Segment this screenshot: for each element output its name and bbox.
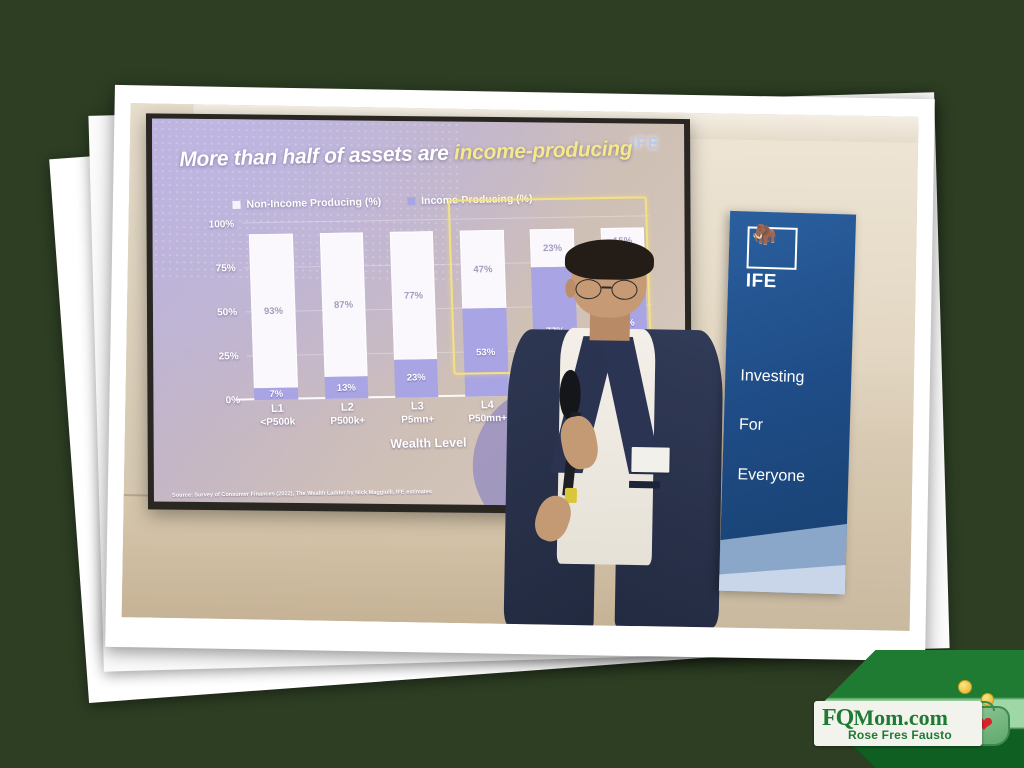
y-tick-100: 100% <box>209 219 235 230</box>
photo-frame-front: IFE More than half of assets are income-… <box>105 85 935 661</box>
bar-L2-segment-income: 13% <box>324 376 368 398</box>
elephant-icon: 🦣 <box>752 225 777 246</box>
banner-line-everyone: Everyone <box>737 466 805 486</box>
y-tick-75: 75% <box>216 263 236 274</box>
speaker-eyeglasses-left-icon <box>576 279 602 299</box>
bar-L2[interactable]: 87% 13% <box>320 232 369 398</box>
banner-line-investing: Investing <box>740 367 805 387</box>
x-label-L3-name: L3 <box>396 400 440 413</box>
speaker-hair <box>564 239 655 280</box>
x-label-L3: L3 P5mn+ <box>396 400 440 426</box>
speaker-eyeglasses-bridge <box>602 287 611 289</box>
x-label-L1-sub: <P500k <box>256 417 300 429</box>
watermark-subtitle: Rose Fres Fausto <box>848 728 952 742</box>
coin-icon-1 <box>958 680 972 694</box>
watermark-fqmom: ❤ FQMom.com Rose Fres Fausto <box>812 650 1024 768</box>
legend-label-non-income: Non-Income Producing (%) <box>247 195 382 210</box>
legend-swatch-non-income-icon <box>233 200 241 208</box>
watermark-text-plate: FQMom.com Rose Fres Fausto <box>814 701 982 746</box>
x-label-L1-name: L1 <box>256 403 300 416</box>
speaker-eyeglasses-right-icon <box>611 279 637 299</box>
bar-L3-segment-income: 23% <box>394 358 439 397</box>
x-label-L2: L2 P500k+ <box>326 401 370 427</box>
bar-L1-segment-income: 7% <box>254 387 298 399</box>
y-axis: 100% 75% 50% 25% 0% <box>193 224 245 400</box>
legend-swatch-income-icon <box>407 197 415 205</box>
bar-L2-segment-non-income: 87% <box>320 232 368 377</box>
slide-title-highlight: income-producing <box>454 137 633 164</box>
speaker-pocket-square <box>629 481 660 488</box>
x-label-L2-sub: P500k+ <box>326 415 370 427</box>
legend-label-income: Income-Producing (%) <box>421 192 533 206</box>
bar-L3[interactable]: 77% 23% <box>390 231 439 397</box>
y-tick-25: 25% <box>218 351 238 362</box>
watermark-mom: Mom.com <box>853 705 948 730</box>
bar-L1[interactable]: 93% 7% <box>249 234 298 400</box>
legend-item-income: Income-Producing (%) <box>407 192 533 207</box>
conference-photo: IFE More than half of assets are income-… <box>122 103 919 631</box>
bar-L3-segment-non-income: 77% <box>390 231 438 359</box>
slide-source-note: Source: Survey of Consumer Finances (202… <box>172 489 432 499</box>
speaker-person <box>492 243 735 627</box>
banner-line-for: For <box>739 416 764 435</box>
banner-logo-text: IFE <box>745 270 777 293</box>
ife-roll-up-banner: 🦣 IFE Investing For Everyone <box>719 211 856 595</box>
x-label-L1: L1 <P500k <box>256 403 300 429</box>
speaker-name-badge <box>632 447 670 472</box>
x-label-L3-sub: P5mn+ <box>396 414 440 426</box>
bar-L1-segment-non-income: 93% <box>249 234 298 389</box>
x-label-L2-name: L2 <box>326 401 370 414</box>
y-tick-50: 50% <box>217 307 237 318</box>
